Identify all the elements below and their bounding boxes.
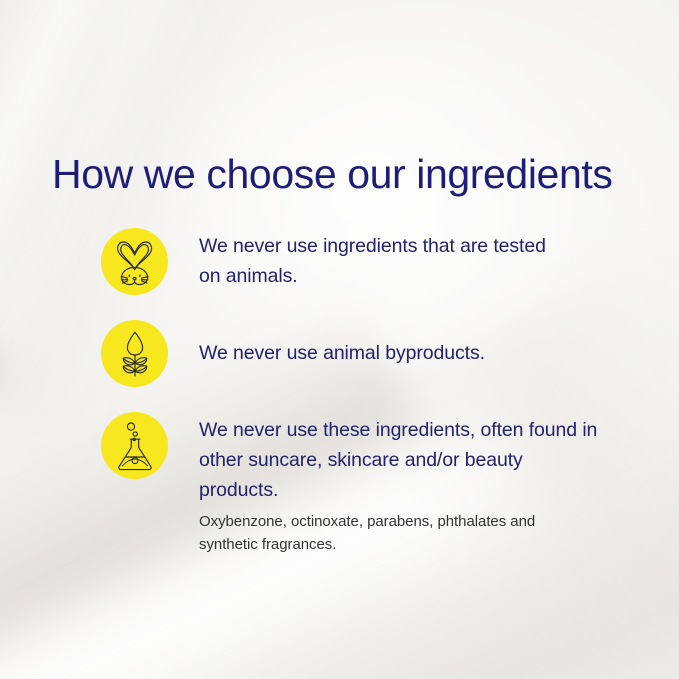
page-title: How we choose our ingredients <box>52 149 612 199</box>
badge-plant-based <box>101 320 168 387</box>
plant-sprig-droplet-icon <box>116 330 154 378</box>
list-item-subtext: Oxybenzone, octinoxate, parabens, phthal… <box>199 510 559 556</box>
badge-cruelty-free <box>101 228 168 295</box>
list-item-text: We never use animal byproducts. <box>199 338 579 368</box>
erlenmeyer-flask-bubbles-icon <box>114 421 156 471</box>
content-layer: How we choose our ingredients <box>0 0 679 679</box>
list-item-text: We never use ingredients that are tested… <box>199 231 569 291</box>
bunny-heart-ears-icon <box>113 238 157 286</box>
ingredients-info-panel: How we choose our ingredients <box>0 0 679 679</box>
badge-no-harsh-chemicals <box>101 412 168 479</box>
list-item-text: We never use these ingredients, often fo… <box>199 415 601 505</box>
